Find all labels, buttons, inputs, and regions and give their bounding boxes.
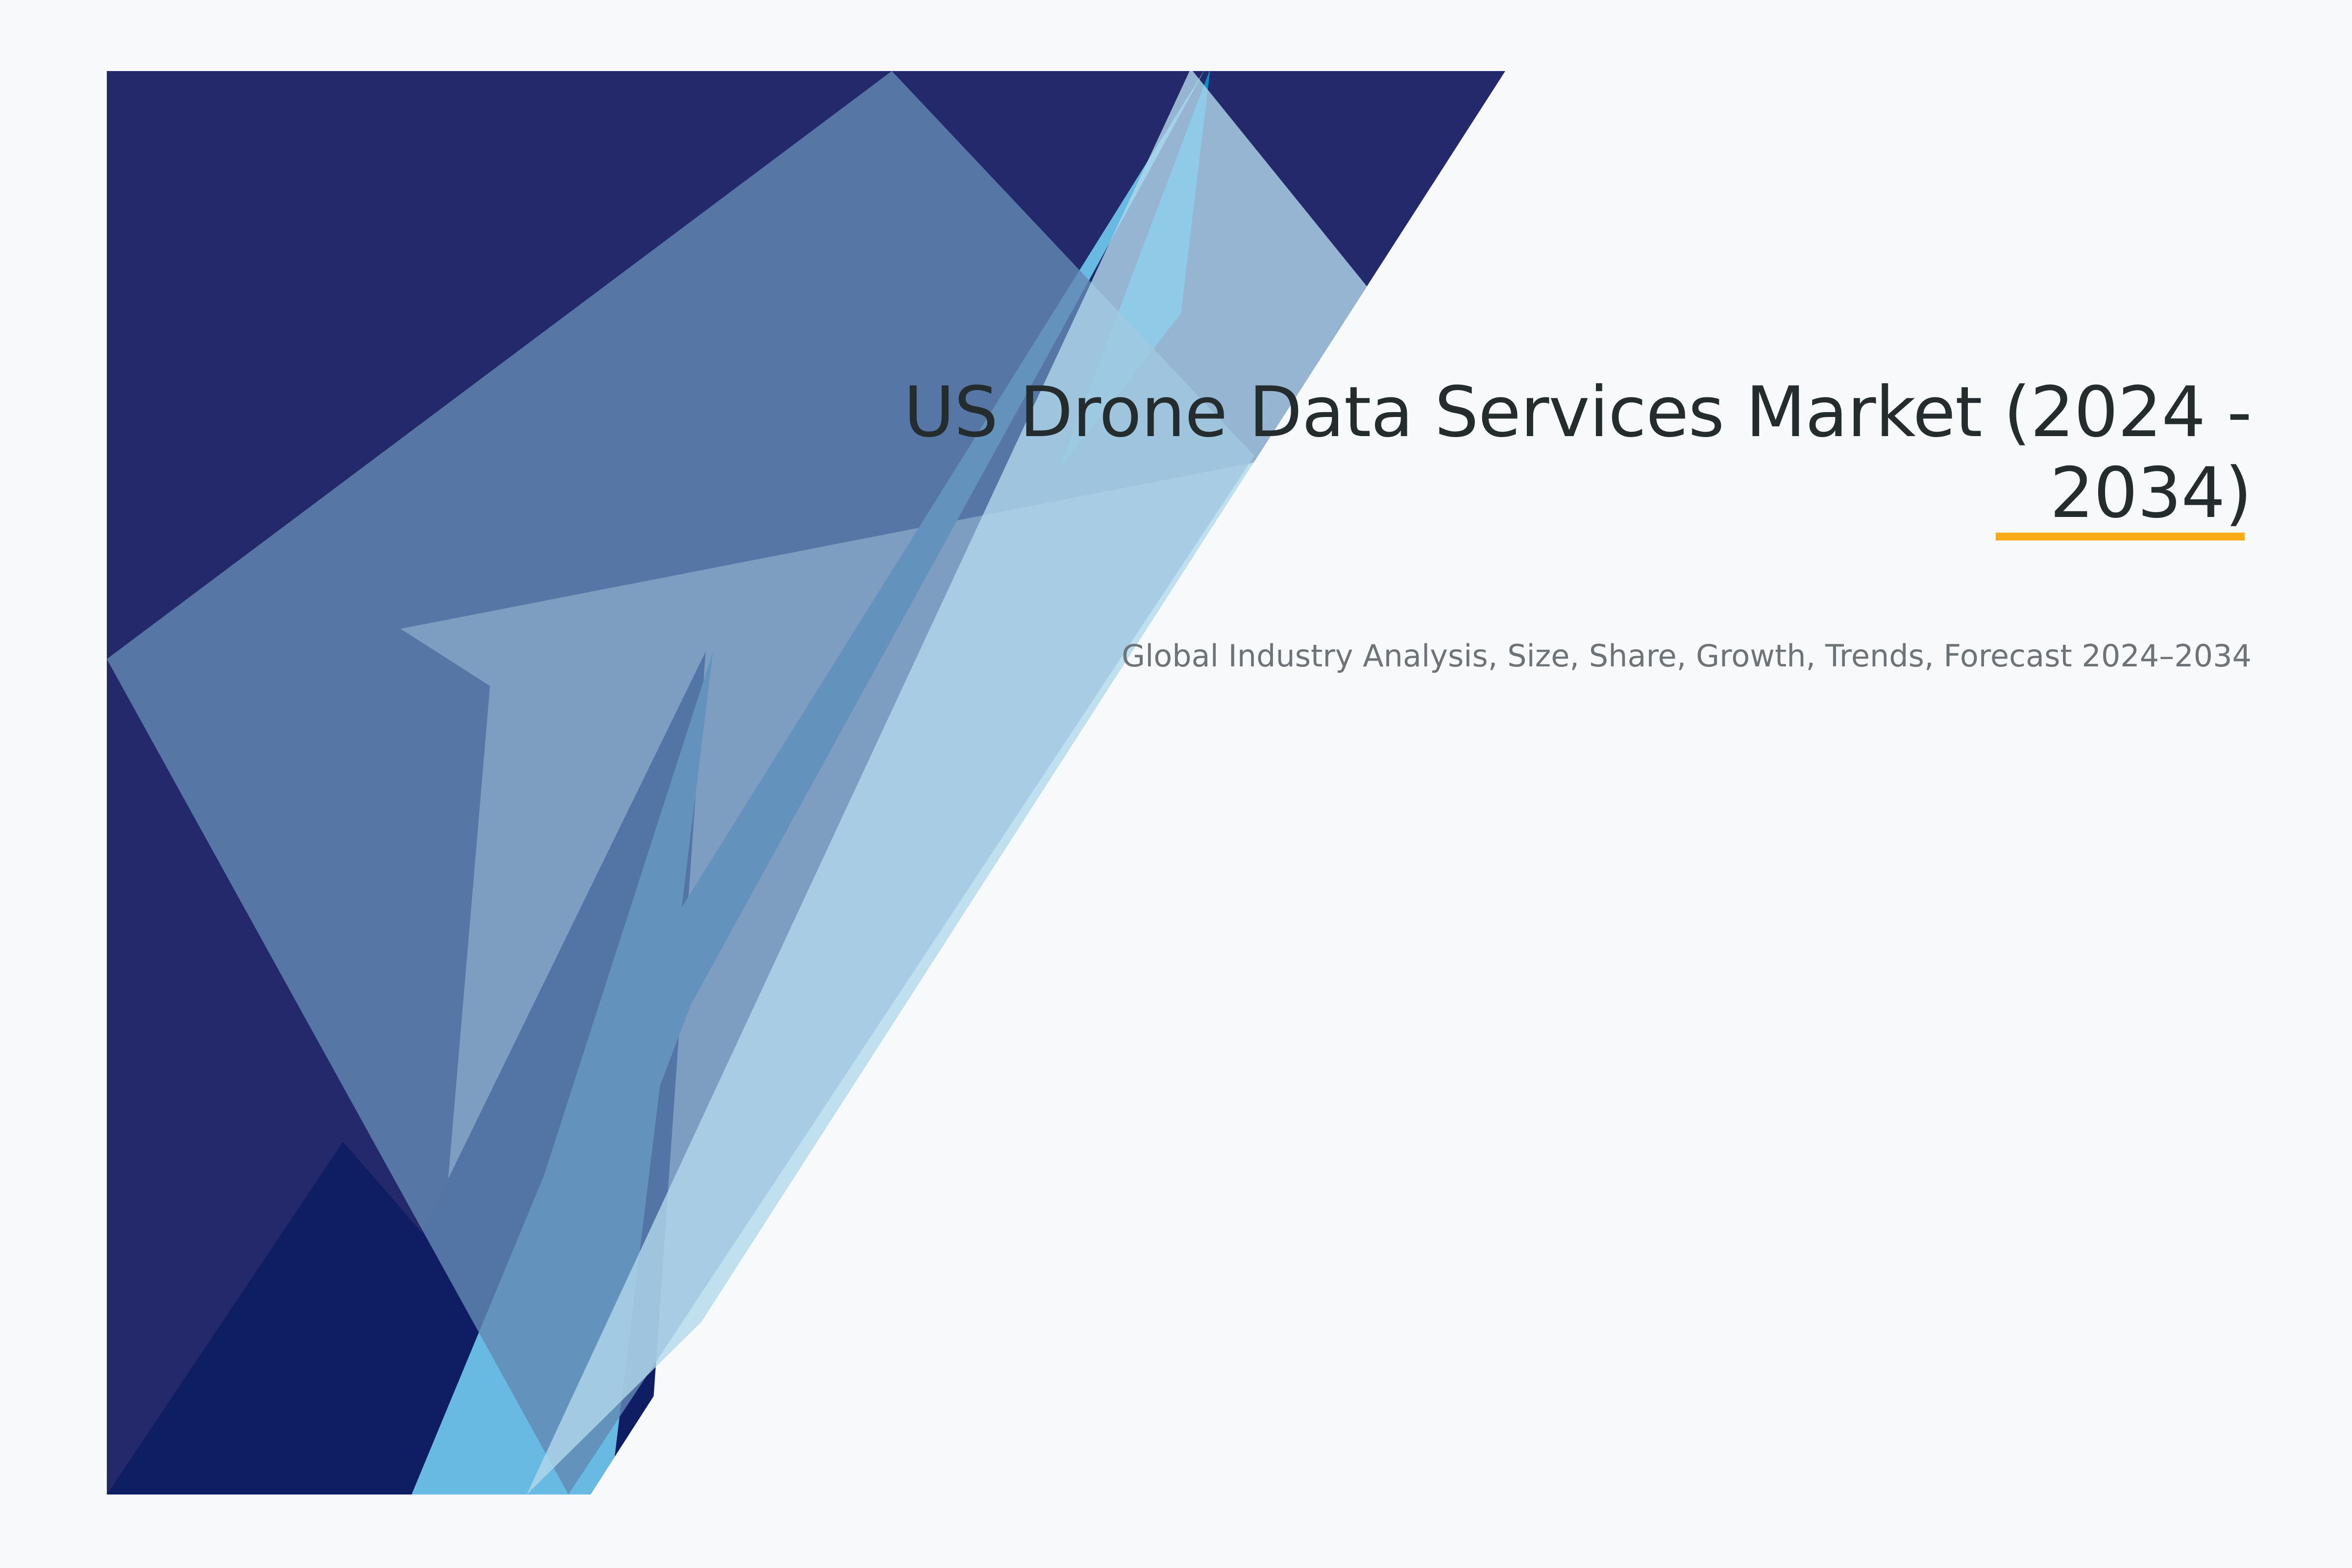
cover-artwork [0, 0, 1568, 1568]
page-subtitle: Global Industry Analysis, Size, Share, G… [821, 636, 2252, 676]
cover-text-block: US Drone Data Services Market (2024 - 20… [821, 372, 2252, 677]
report-cover-page: US Drone Data Services Market (2024 - 20… [0, 0, 2352, 1568]
title-accent-underline [1996, 533, 2245, 540]
page-title: US Drone Data Services Market (2024 - 20… [821, 372, 2252, 534]
title-wrapper: US Drone Data Services Market (2024 - 20… [821, 372, 2252, 534]
abstract-polygon-graphic [0, 0, 1568, 1568]
